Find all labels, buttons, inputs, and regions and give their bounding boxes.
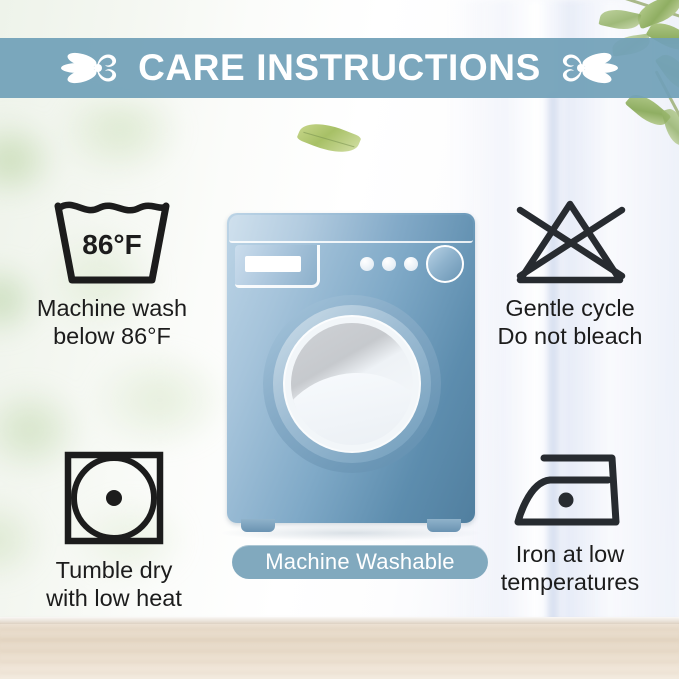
fleur-de-lis-icon — [559, 46, 621, 90]
caption: Tumble dry with low heat — [46, 556, 182, 612]
control-buttons — [360, 257, 418, 271]
detergent-slot — [245, 256, 301, 272]
care-symbol-do-not-bleach: Gentle cycle Do not bleach — [470, 196, 670, 350]
machine-door-outer-ring — [263, 295, 441, 473]
background-table-grain — [0, 617, 679, 679]
control-button-icon — [360, 257, 374, 271]
machine-door-rim — [285, 317, 419, 451]
caption: Iron at low temperatures — [501, 540, 639, 596]
program-knob — [426, 245, 464, 283]
machine-washable-badge: Machine Washable — [232, 545, 488, 579]
caption-line-1: Machine wash — [37, 295, 187, 321]
care-symbol-iron: Iron at low temperatures — [470, 450, 670, 596]
page-title: CARE INSTRUCTIONS — [138, 47, 541, 89]
detergent-drawer — [235, 245, 320, 288]
machine-top-panel — [229, 215, 473, 243]
badge-label: Machine Washable — [265, 549, 454, 575]
fleur-de-lis-icon — [58, 46, 120, 90]
caption-line-2: temperatures — [501, 569, 639, 595]
caption-line-2: Do not bleach — [497, 323, 642, 349]
machine-foot — [241, 519, 275, 532]
wash-temperature-label: 86°F — [82, 229, 141, 260]
care-symbol-machine-wash: 86°F Machine wash below 86°F — [12, 196, 212, 350]
machine-foot — [427, 519, 461, 532]
care-symbol-tumble-dry: Tumble dry with low heat — [14, 448, 214, 612]
washing-machine-illustration — [227, 213, 475, 535]
leaf-vein — [303, 131, 354, 147]
control-button-icon — [382, 257, 396, 271]
tumble-dry-low-heat-icon — [61, 448, 167, 548]
caption: Machine wash below 86°F — [37, 294, 187, 350]
control-button-icon — [404, 257, 418, 271]
machine-door-glass — [291, 323, 413, 445]
iron-one-dot-icon — [510, 450, 630, 532]
care-instructions-graphic: CARE INSTRUCTIONS 86°F Mac — [0, 0, 679, 679]
caption-line-1: Iron at low — [516, 541, 624, 567]
machine-door-mid-ring — [273, 305, 431, 463]
triangle-crossed-no-bleach-icon — [510, 196, 630, 286]
caption-line-2: with low heat — [46, 585, 182, 611]
wash-tub-icon: 86°F — [52, 196, 172, 286]
caption-line-2: below 86°F — [53, 323, 171, 349]
caption-line-1: Gentle cycle — [505, 295, 634, 321]
caption-line-1: Tumble dry — [56, 557, 173, 583]
caption: Gentle cycle Do not bleach — [497, 294, 642, 350]
header-banner: CARE INSTRUCTIONS — [0, 38, 679, 98]
